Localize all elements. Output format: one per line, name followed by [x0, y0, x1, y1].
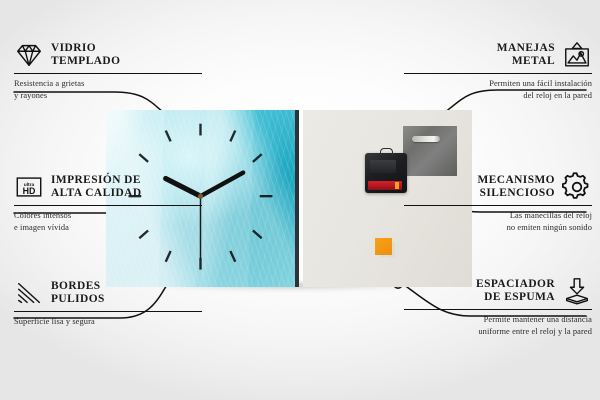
mechanism-body [370, 160, 396, 173]
callout-desc-line2: uniforme entre el reloj y la pared [404, 326, 592, 337]
callout-title-line2: DE ESPUMA [476, 291, 555, 304]
callout-bordes-pulidos: BORDES PULIDOS Superficie lisa y segura [14, 278, 202, 328]
ultra-hd-badge-icon: ultra HD [14, 172, 44, 202]
callout-desc-line1: Colores intensos [14, 210, 202, 221]
gear-icon [562, 172, 592, 202]
hanger-loop [380, 148, 393, 156]
callout-desc-line2: no emiten ningún sonido [404, 222, 592, 233]
callout-desc-line1: Superficie lisa y segura [14, 316, 202, 327]
callout-title-line1: MECANISMO [478, 174, 555, 187]
polished-edge-icon [14, 278, 44, 308]
callout-title-line2: METAL [497, 55, 555, 68]
callout-desc-line1: Permite mantener una distancia [404, 314, 592, 325]
callout-desc-line2: y rayones [14, 90, 202, 101]
callout-desc-line2: del reloj en la pared [404, 90, 592, 101]
callout-desc-line1: Resistencia a grietas [14, 78, 202, 89]
diamond-icon [14, 40, 44, 70]
callout-title-line1: IMPRESIÓN DE [51, 174, 142, 187]
callout-title-line1: ESPACIADOR [476, 278, 555, 291]
callout-title-line1: MANEJAS [497, 42, 555, 55]
divider [14, 311, 202, 312]
divider [404, 205, 592, 206]
callout-desc-line1: Permiten una fácil instalación [404, 78, 592, 89]
callout-title-line2: TEMPLADO [51, 55, 120, 68]
divider [404, 309, 592, 310]
foam-spacer [375, 238, 392, 255]
divider [14, 73, 202, 74]
battery [368, 181, 402, 190]
framed-picture-hanging-icon [562, 40, 592, 70]
callout-vidrio-templado: VIDRIO TEMPLADO Resistencia a grietas y … [14, 40, 202, 101]
metal-hanger-plate [403, 126, 457, 176]
callout-title-line2: ALTA CALIDAD [51, 187, 142, 200]
arrow-onto-layers-icon [562, 276, 592, 306]
minute-hand [200, 173, 243, 197]
callout-title-line1: BORDES [51, 280, 105, 293]
callout-title-line1: VIDRIO [51, 42, 120, 55]
callout-desc-line2: e imagen vívida [14, 222, 202, 233]
divider [404, 73, 592, 74]
svg-text:HD: HD [23, 186, 36, 196]
callout-title-line2: SILENCIOSO [478, 187, 555, 200]
divider [14, 205, 202, 206]
callout-espaciador-espuma: ESPACIADOR DE ESPUMA Permite mantener un… [404, 276, 592, 337]
infographic-canvas: VIDRIO TEMPLADO Resistencia a grietas y … [0, 0, 600, 400]
callout-desc-line1: Las manecillas del reloj [404, 210, 592, 221]
callout-mecanismo-silencioso: MECANISMO SILENCIOSO Las manecillas del … [404, 172, 592, 233]
callout-manejas-metal: MANEJAS METAL Permiten una fácil instala… [404, 40, 592, 101]
clock-mechanism [365, 153, 407, 193]
callout-title-line2: PULIDOS [51, 293, 105, 306]
callout-impresion-alta-calidad: ultra HD IMPRESIÓN DE ALTA CALIDAD Color… [14, 172, 202, 233]
